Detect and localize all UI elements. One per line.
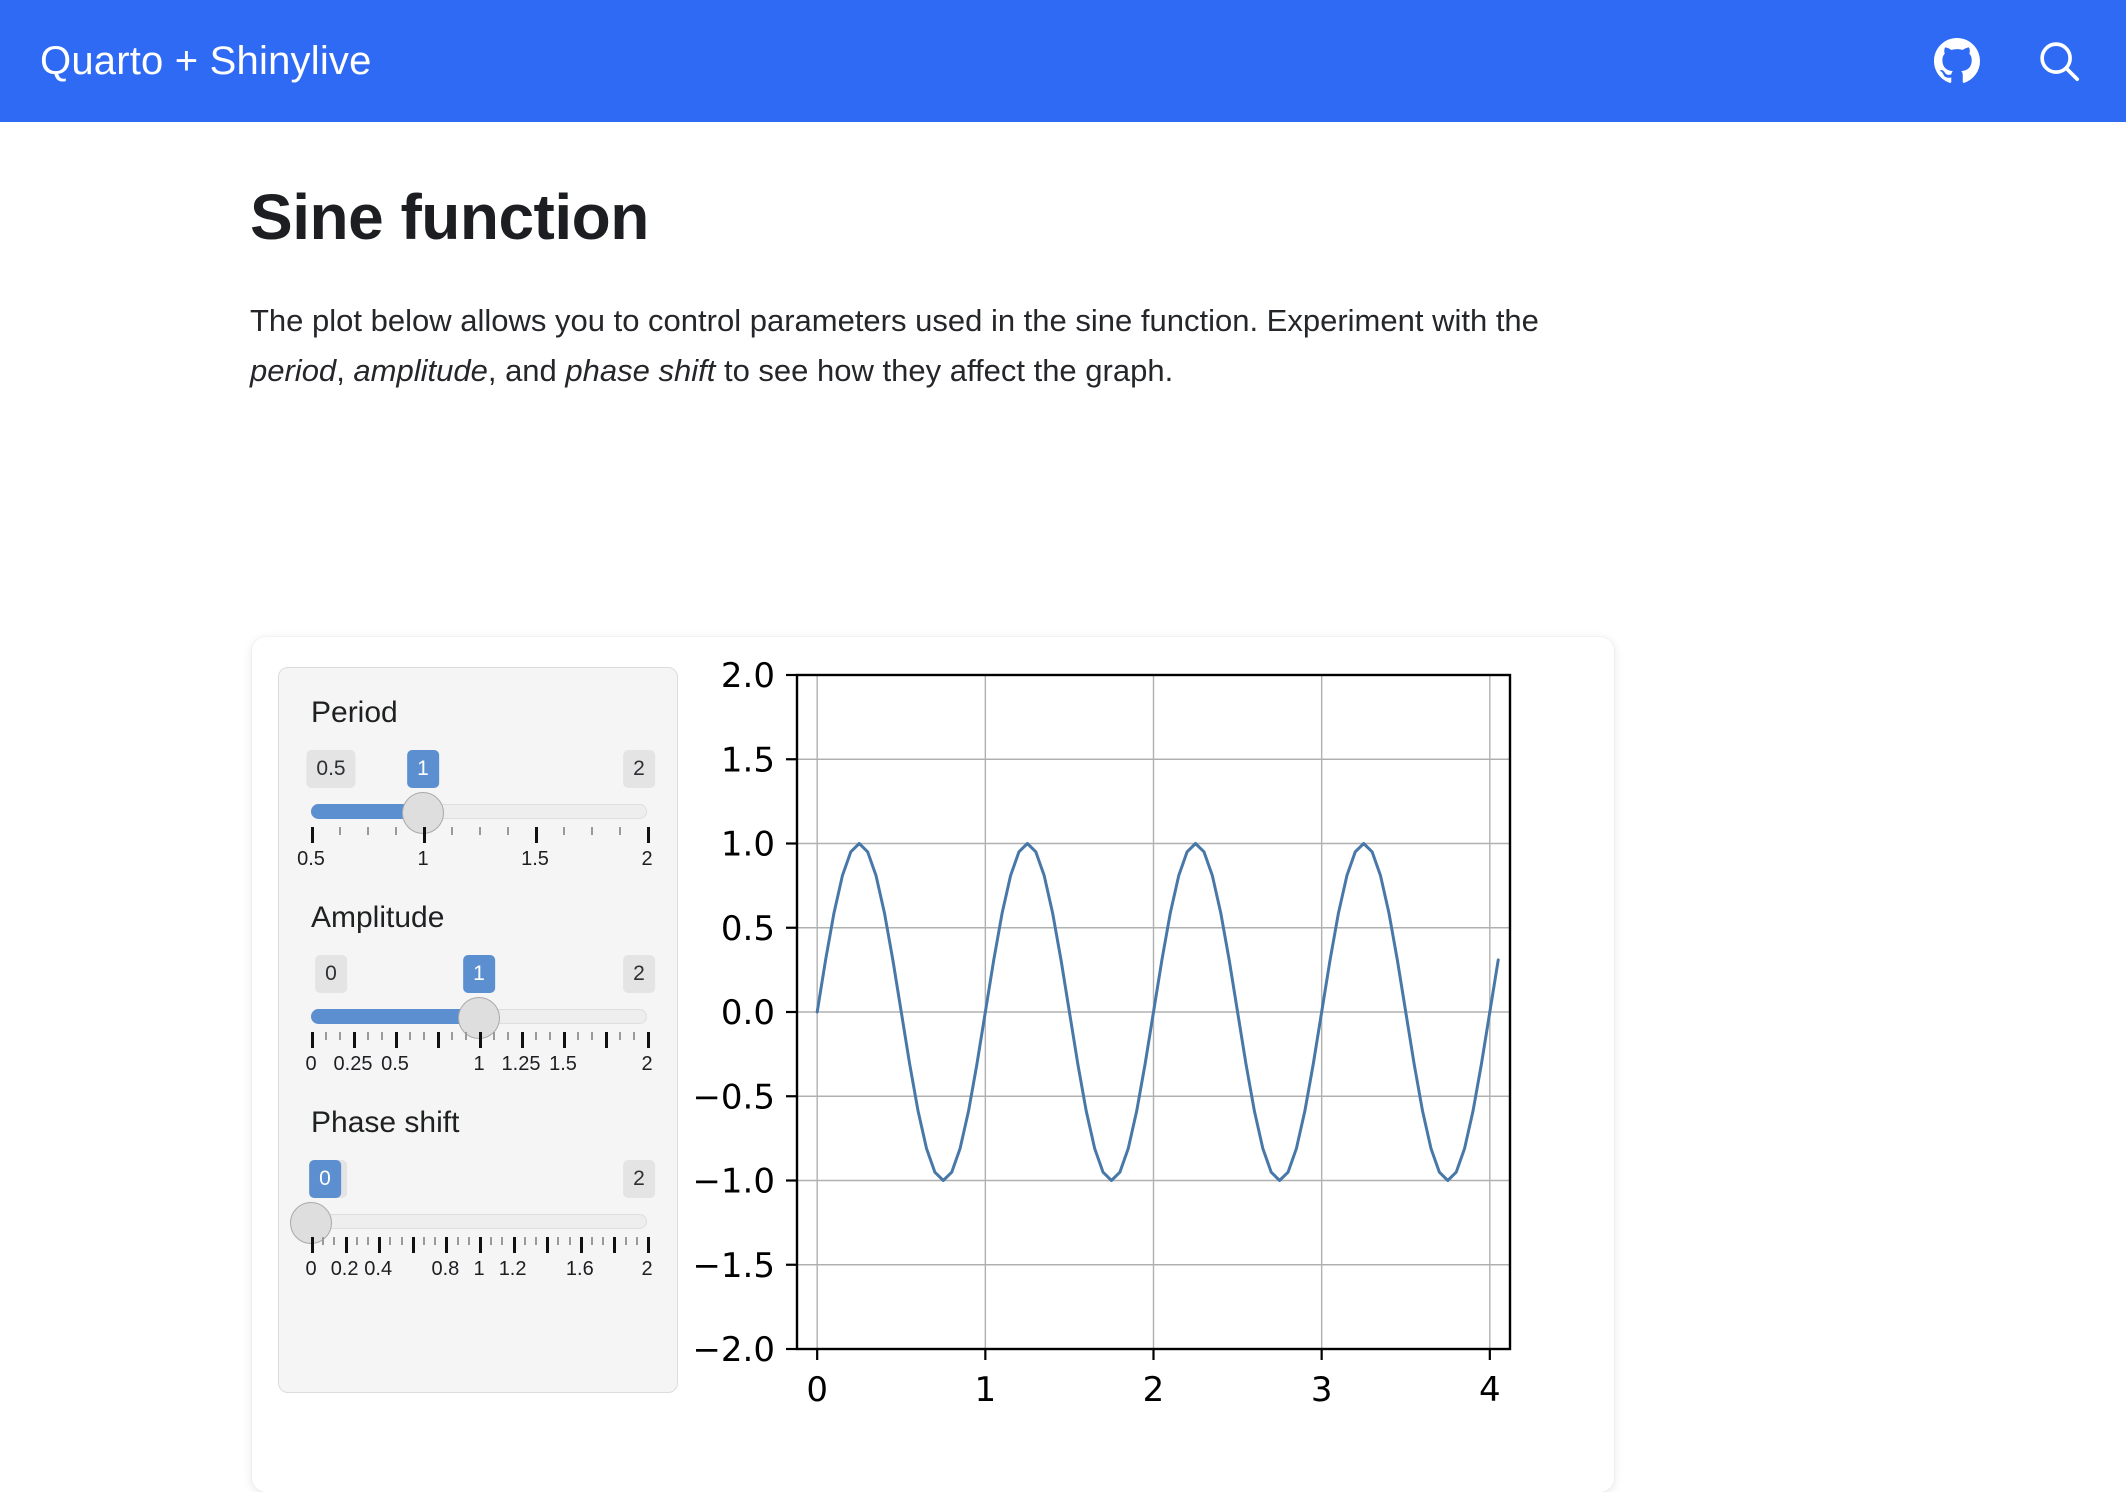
search-icon[interactable]	[2036, 38, 2082, 84]
slider-tick-minor	[401, 1237, 403, 1245]
controls-sidebar: Period0.5120.511.52Amplitude01200.250.51…	[278, 667, 678, 1393]
slider-tick-label: 1	[473, 1054, 484, 1074]
description-text-2: to see how they affect the graph.	[715, 353, 1173, 388]
description-sep-2: , and	[488, 353, 566, 388]
slider-track-bg-phase-shift[interactable]	[311, 1214, 647, 1229]
y-axis-tick-label: −2.0	[692, 1330, 775, 1370]
slider-tick-minor	[451, 1032, 453, 1040]
slider-track-amplitude[interactable]	[311, 1001, 647, 1031]
slider-tick-label: 1.25	[502, 1054, 541, 1074]
slider-ticks-period	[311, 827, 647, 845]
y-axis-tick-label: −1.5	[692, 1246, 775, 1286]
slider-tick-minor	[423, 1032, 425, 1040]
slider-value-badge-period: 1	[407, 750, 439, 788]
slider-tick-major	[535, 827, 538, 843]
slider-tick-minor	[479, 827, 481, 835]
slider-tick-major	[546, 1237, 549, 1253]
slider-tick-labels-amplitude: 00.250.511.251.52	[311, 1054, 647, 1082]
slider-tick-minor	[524, 1237, 526, 1245]
slider-min-badge-amplitude: 0	[315, 955, 347, 993]
slider-tick-minor	[367, 1237, 369, 1245]
slider-tick-minor	[468, 1237, 470, 1245]
slider-tick-label: 0.5	[381, 1054, 409, 1074]
slider-tick-major	[580, 1237, 583, 1253]
slider-tick-major	[647, 827, 650, 843]
slider-tick-minor	[563, 827, 565, 835]
slider-tick-minor	[535, 1032, 537, 1040]
slider-tick-label: 0.2	[331, 1259, 359, 1279]
slider-tick-major	[647, 1032, 650, 1048]
slider-min-badge-period: 0.5	[306, 750, 355, 788]
slider-tick-minor	[535, 1237, 537, 1245]
slider-tick-labels-phase-shift: 00.20.40.811.21.62	[311, 1259, 647, 1287]
top-navbar: Quarto + Shinylive	[0, 0, 2126, 122]
slider-tick-minor	[507, 1032, 509, 1040]
slider-tick-label: 1.6	[566, 1259, 594, 1279]
slider-tick-minor	[409, 1032, 411, 1040]
slider-badges-amplitude: 012	[311, 955, 647, 993]
github-icon[interactable]	[1934, 38, 1980, 84]
slider-tick-label: 2	[641, 849, 652, 869]
slider-tick-minor	[367, 827, 369, 835]
slider-tick-major	[311, 827, 314, 843]
description-sep-1: ,	[336, 353, 353, 388]
y-axis-tick-label: 1.5	[721, 740, 775, 780]
slider-tick-minor	[493, 1032, 495, 1040]
y-axis-tick-label: 1.0	[721, 825, 775, 865]
slider-tick-label: 0.25	[334, 1054, 373, 1074]
slider-group-amplitude: Amplitude01200.250.511.251.52	[311, 903, 647, 1082]
slider-track-fill-amplitude	[311, 1009, 479, 1024]
x-axis-tick-label: 4	[1479, 1370, 1501, 1410]
y-axis-tick-label: −1.0	[692, 1162, 775, 1202]
slider-tick-major	[521, 1032, 524, 1048]
slider-tick-minor	[339, 827, 341, 835]
slider-tick-label: 1	[473, 1259, 484, 1279]
slider-tick-minor	[507, 827, 509, 835]
slider-tick-major	[479, 1032, 482, 1048]
sine-plot-svg: 01234−2.0−1.5−1.0−0.50.00.51.01.52.0	[692, 637, 1592, 1492]
slider-tick-label: 1.5	[549, 1054, 577, 1074]
slider-tick-major	[513, 1237, 516, 1253]
slider-tick-minor	[591, 1237, 593, 1245]
slider-tick-minor	[569, 1237, 571, 1245]
slider-badges-period: 0.512	[311, 750, 647, 788]
y-axis-tick-label: −0.5	[692, 1077, 775, 1117]
y-axis-tick-label: 0.5	[721, 909, 775, 949]
slider-tick-label: 2	[641, 1054, 652, 1074]
slider-tick-minor	[457, 1237, 459, 1245]
slider-tick-minor	[339, 1032, 341, 1040]
slider-tick-minor	[333, 1237, 335, 1245]
slider-tick-label: 0.5	[297, 849, 325, 869]
slider-tick-major	[613, 1237, 616, 1253]
slider-tick-label: 1.2	[499, 1259, 527, 1279]
description-emphasis-amplitude: amplitude	[353, 353, 487, 388]
slider-group-phase-shift: Phase shift00200.20.40.811.21.62	[311, 1108, 647, 1287]
slider-tick-minor	[557, 1237, 559, 1245]
slider-tick-minor	[434, 1237, 436, 1245]
slider-tick-label: 1	[417, 849, 428, 869]
description-emphasis-period: period	[250, 353, 336, 388]
slider-track-phase-shift[interactable]	[311, 1206, 647, 1236]
slider-value-badge-amplitude: 1	[463, 955, 495, 993]
slider-tick-major	[647, 1237, 650, 1253]
page-title: Sine function	[250, 182, 1650, 254]
slider-tick-label: 2	[641, 1259, 652, 1279]
shinylive-app-card: Period0.5120.511.52Amplitude01200.250.51…	[252, 637, 1614, 1492]
slider-tick-minor	[602, 1237, 604, 1245]
slider-label-phase-shift: Phase shift	[311, 1108, 647, 1138]
navbar-tools	[1934, 38, 2082, 84]
slider-tick-minor	[325, 1032, 327, 1040]
article-header: Sine function The plot below allows you …	[250, 182, 1650, 396]
slider-tick-minor	[633, 1032, 635, 1040]
slider-badges-phase-shift: 002	[311, 1160, 647, 1198]
slider-tick-minor	[490, 1237, 492, 1245]
slider-tick-minor	[501, 1237, 503, 1245]
x-axis-tick-label: 2	[1143, 1370, 1165, 1410]
slider-max-badge-amplitude: 2	[623, 955, 655, 993]
slider-tick-major	[445, 1237, 448, 1253]
y-axis-tick-label: 2.0	[721, 656, 775, 696]
slider-ticks-phase-shift	[311, 1237, 647, 1255]
slider-tick-minor	[591, 827, 593, 835]
slider-tick-major	[605, 1032, 608, 1048]
y-axis-tick-label: 0.0	[721, 993, 775, 1033]
slider-tick-minor	[423, 1237, 425, 1245]
slider-label-period: Period	[311, 698, 647, 728]
slider-tick-major	[563, 1032, 566, 1048]
slider-tick-minor	[451, 827, 453, 835]
slider-group-period: Period0.5120.511.52	[311, 698, 647, 877]
slider-tick-minor	[395, 827, 397, 835]
slider-label-amplitude: Amplitude	[311, 903, 647, 933]
slider-tick-minor	[625, 1237, 627, 1245]
slider-ticks-amplitude	[311, 1032, 647, 1050]
slider-tick-label: 0.4	[364, 1259, 392, 1279]
slider-tick-minor	[619, 827, 621, 835]
x-axis-tick-label: 3	[1311, 1370, 1333, 1410]
x-axis-tick-label: 0	[806, 1370, 828, 1410]
slider-tick-major	[378, 1237, 381, 1253]
slider-value-badge-phase-shift: 0	[309, 1160, 341, 1198]
slider-tick-minor	[322, 1237, 324, 1245]
slider-tick-major	[311, 1237, 314, 1253]
slider-tick-label: 0	[305, 1259, 316, 1279]
slider-tick-major	[412, 1237, 415, 1253]
slider-tick-labels-period: 0.511.52	[311, 849, 647, 877]
page-description: The plot below allows you to control par…	[250, 296, 1580, 396]
slider-max-badge-period: 2	[623, 750, 655, 788]
slider-tick-major	[353, 1032, 356, 1048]
slider-tick-minor	[591, 1032, 593, 1040]
slider-tick-minor	[636, 1237, 638, 1245]
slider-track-period[interactable]	[311, 796, 647, 826]
slider-tick-minor	[381, 1032, 383, 1040]
plot-output: 01234−2.0−1.5−1.0−0.50.00.51.01.52.0	[692, 637, 1592, 1492]
slider-tick-major	[479, 1237, 482, 1253]
description-emphasis-phase-shift: phase shift	[565, 353, 715, 388]
slider-tick-minor	[619, 1032, 621, 1040]
slider-max-badge-phase-shift: 2	[623, 1160, 655, 1198]
slider-tick-label: 0.8	[431, 1259, 459, 1279]
slider-tick-minor	[356, 1237, 358, 1245]
slider-tick-minor	[577, 1032, 579, 1040]
slider-tick-major	[437, 1032, 440, 1048]
site-brand[interactable]: Quarto + Shinylive	[40, 41, 372, 81]
slider-tick-major	[345, 1237, 348, 1253]
slider-tick-minor	[465, 1032, 467, 1040]
slider-tick-major	[311, 1032, 314, 1048]
slider-tick-label: 0	[305, 1054, 316, 1074]
slider-tick-major	[395, 1032, 398, 1048]
description-text-1: The plot below allows you to control par…	[250, 303, 1539, 338]
slider-tick-minor	[549, 1032, 551, 1040]
x-axis-tick-label: 1	[975, 1370, 997, 1410]
slider-tick-major	[423, 827, 426, 843]
slider-tick-minor	[389, 1237, 391, 1245]
slider-tick-minor	[367, 1032, 369, 1040]
slider-tick-label: 1.5	[521, 849, 549, 869]
